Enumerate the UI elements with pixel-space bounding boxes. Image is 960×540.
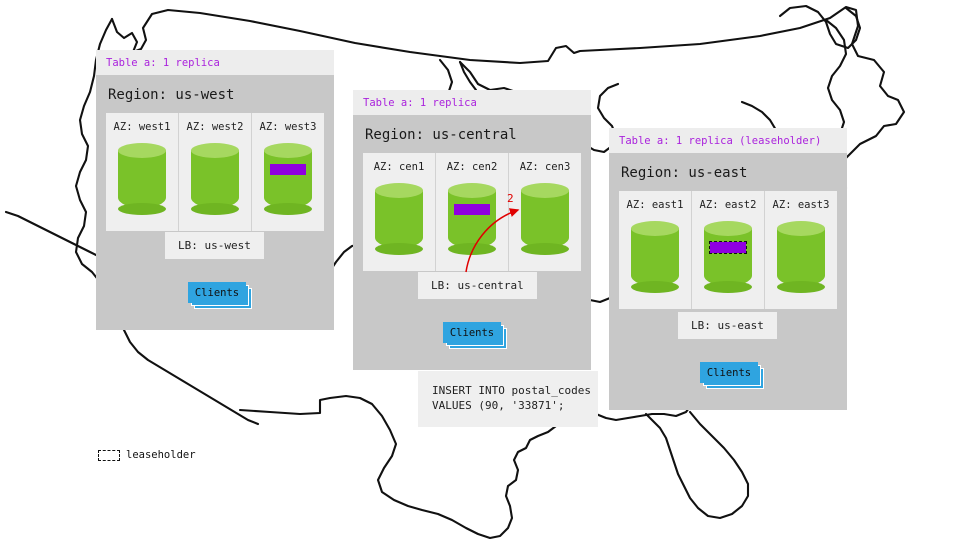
az-cell-west2[interactable]: AZ: west2 [179,113,252,231]
cylinder-top [264,143,312,158]
database-cylinder-cen2[interactable] [448,183,496,255]
cylinder-bottom [191,203,239,215]
cylinder-body [118,150,166,208]
database-cylinder-cen3[interactable] [521,183,569,255]
az-label-east3: AZ: east3 [765,191,837,211]
cylinder-body [704,228,752,286]
cylinder-top [191,143,239,158]
clients-button-us-west[interactable]: Clients [188,282,246,303]
cylinder-bottom [264,203,312,215]
database-cylinder-west3[interactable] [264,143,312,215]
cylinder-bottom [375,243,423,255]
cylinder-top [777,221,825,236]
cylinder-body [191,150,239,208]
cylinder-top [448,183,496,198]
load-balancer-us-east[interactable]: LB: us-east [678,312,777,339]
sql-statement-box: INSERT INTO postal_codes VALUES (90, '33… [418,371,598,427]
database-cylinder-west2[interactable] [191,143,239,215]
az-label-east1: AZ: east1 [619,191,691,211]
clients-button-us-central[interactable]: Clients [443,322,501,343]
az-label-east2: AZ: east2 [692,191,764,211]
cylinder-top [118,143,166,158]
az-cell-east2[interactable]: AZ: east2 [692,191,765,309]
az-strip-us-west: AZ: west1 AZ: west2 AZ: west3 [106,113,324,231]
cylinder-top [521,183,569,198]
replica-band-us-central: Table a: 1 replica [353,90,591,115]
database-cylinder-east1[interactable] [631,221,679,293]
database-cylinder-east3[interactable] [777,221,825,293]
clients-stack-us-central[interactable]: Clients [443,322,503,344]
database-cylinder-west1[interactable] [118,143,166,215]
az-cell-west3[interactable]: AZ: west3 [252,113,324,231]
cylinder-bottom [521,243,569,255]
replica-bar-cen2 [454,204,490,215]
cylinder-body [448,190,496,248]
az-label-west1: AZ: west1 [106,113,178,133]
az-strip-us-east: AZ: east1 AZ: east2 AZ: east3 [619,191,837,309]
cylinder-body [777,228,825,286]
az-strip-us-central: AZ: cen1 AZ: cen2 AZ: cen3 [363,153,581,271]
az-cell-east1[interactable]: AZ: east1 [619,191,692,309]
az-cell-cen2[interactable]: AZ: cen2 [436,153,509,271]
az-cell-cen1[interactable]: AZ: cen1 [363,153,436,271]
cylinder-top [631,221,679,236]
database-cylinder-cen1[interactable] [375,183,423,255]
cylinder-bottom [704,281,752,293]
clients-stack-us-west[interactable]: Clients [188,282,248,304]
clients-button-us-east[interactable]: Clients [700,362,758,383]
cylinder-bottom [777,281,825,293]
load-balancer-us-west[interactable]: LB: us-west [165,232,264,259]
replica-bar-west3 [270,164,306,175]
cylinder-bottom [448,243,496,255]
replica-bar-leaseholder-east2 [710,242,746,253]
cylinder-top [375,183,423,198]
cylinder-bottom [631,281,679,293]
database-cylinder-east2[interactable] [704,221,752,293]
az-label-west2: AZ: west2 [179,113,251,133]
dashed-box-icon [98,450,120,461]
az-label-cen3: AZ: cen3 [509,153,581,173]
routing-arrow-label: 2 [507,192,514,205]
az-cell-east3[interactable]: AZ: east3 [765,191,837,309]
region-title-us-west: Region: us-west [96,75,334,113]
legend-label-leaseholder: leaseholder [126,449,196,461]
cylinder-body [264,150,312,208]
region-title-us-central: Region: us-central [353,115,591,153]
az-label-west3: AZ: west3 [252,113,324,133]
replica-band-us-east: Table a: 1 replica (leaseholder) [609,128,847,153]
az-label-cen1: AZ: cen1 [363,153,435,173]
diagram-canvas: Table a: 1 replica Region: us-west AZ: w… [0,0,960,540]
load-balancer-us-central[interactable]: LB: us-central [418,272,537,299]
az-label-cen2: AZ: cen2 [436,153,508,173]
az-cell-cen3[interactable]: AZ: cen3 [509,153,581,271]
cylinder-body [631,228,679,286]
clients-stack-us-east[interactable]: Clients [700,362,760,384]
cylinder-body [521,190,569,248]
az-cell-west1[interactable]: AZ: west1 [106,113,179,231]
replica-band-us-west: Table a: 1 replica [96,50,334,75]
cylinder-body [375,190,423,248]
region-title-us-east: Region: us-east [609,153,847,191]
legend: leaseholder [98,449,196,461]
cylinder-top [704,221,752,236]
cylinder-bottom [118,203,166,215]
